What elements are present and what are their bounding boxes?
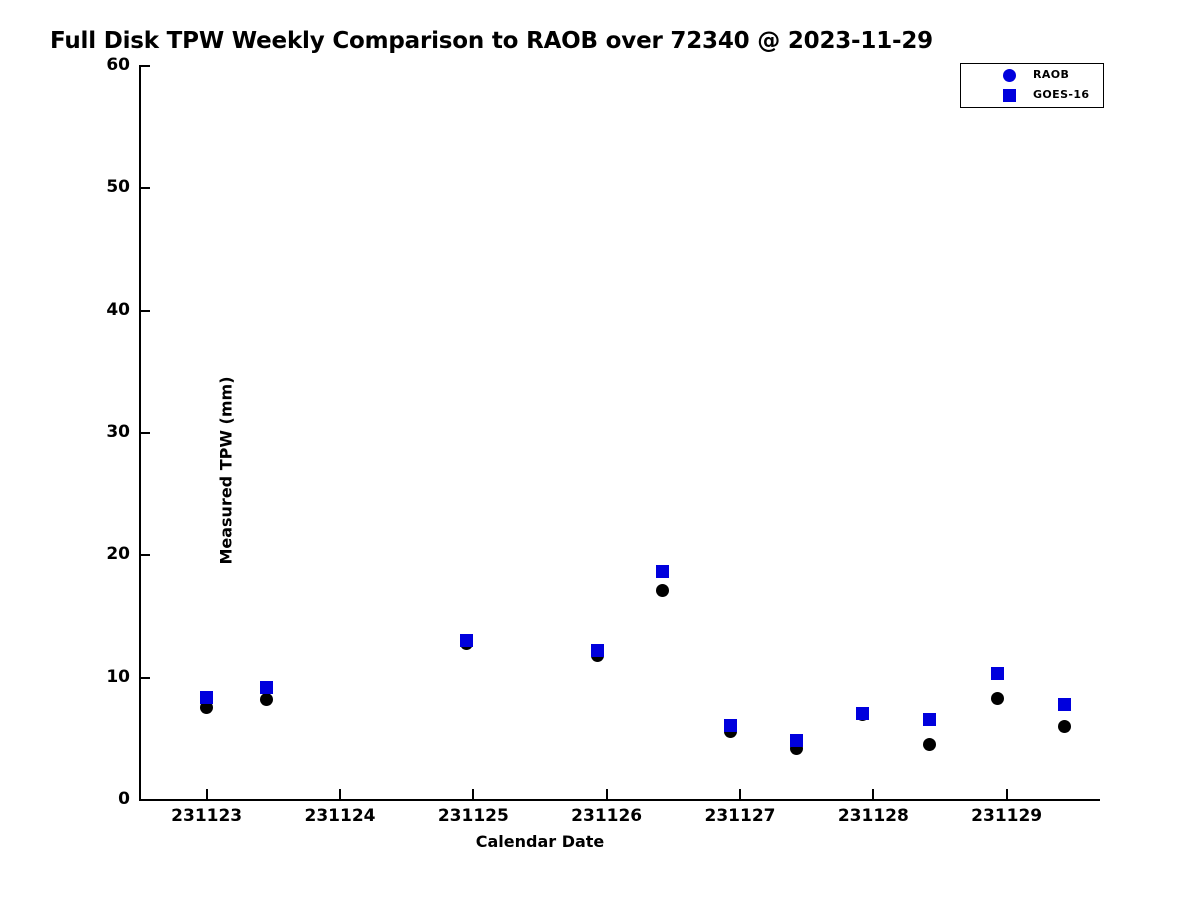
legend-label-raob: RAOB bbox=[1033, 68, 1069, 81]
legend-label-goes16: GOES-16 bbox=[1033, 88, 1090, 101]
x-tick-label-231129: 231129 bbox=[942, 806, 1072, 826]
y-tick-label-60: 60 bbox=[70, 55, 130, 75]
x-tick-label-231124: 231124 bbox=[275, 806, 405, 826]
raob-circle-icon bbox=[1003, 69, 1017, 83]
y-tick-label-50: 50 bbox=[70, 177, 130, 197]
chart-legend[interactable]: RAOB GOES-16 bbox=[960, 63, 1104, 108]
goes16-square-icon bbox=[1003, 89, 1017, 103]
y-tick-label-10: 10 bbox=[70, 667, 130, 687]
y-tick-label-0: 0 bbox=[70, 789, 130, 809]
data-point-goes-16-3 bbox=[591, 644, 604, 657]
x-tick-label-231127: 231127 bbox=[675, 806, 805, 826]
plot-area: Measured TPW (mm) bbox=[140, 66, 1100, 800]
data-point-goes-16-8 bbox=[923, 713, 936, 726]
x-tick-label-231126: 231126 bbox=[542, 806, 672, 826]
data-point-goes-16-2 bbox=[460, 634, 473, 647]
data-point-goes-16-6 bbox=[790, 734, 803, 747]
data-point-goes-16-9 bbox=[991, 667, 1004, 680]
data-point-goes-16-5 bbox=[724, 719, 737, 732]
y-tick-label-30: 30 bbox=[70, 422, 130, 442]
data-point-goes-16-10 bbox=[1058, 698, 1071, 711]
data-point-goes-16-0 bbox=[200, 691, 213, 704]
data-point-goes-16-4 bbox=[656, 565, 669, 578]
x-tick-label-231125: 231125 bbox=[408, 806, 538, 826]
x-tick-label-231128: 231128 bbox=[808, 806, 938, 826]
y-axis-label: Measured TPW (mm) bbox=[217, 341, 236, 601]
data-point-goes-16-1 bbox=[260, 681, 273, 694]
data-point-raob-10 bbox=[1058, 720, 1071, 733]
x-tick-label-231123: 231123 bbox=[142, 806, 272, 826]
x-axis-label: Calendar Date bbox=[330, 832, 750, 851]
y-tick-label-40: 40 bbox=[70, 300, 130, 320]
data-point-raob-9 bbox=[991, 692, 1004, 705]
y-tick-label-20: 20 bbox=[70, 544, 130, 564]
chart-title: Full Disk TPW Weekly Comparison to RAOB … bbox=[50, 28, 933, 54]
chart-figure: Full Disk TPW Weekly Comparison to RAOB … bbox=[0, 0, 1200, 900]
data-point-goes-16-7 bbox=[856, 707, 869, 720]
legend-entry-goes16[interactable]: GOES-16 bbox=[961, 87, 1105, 105]
legend-entry-raob[interactable]: RAOB bbox=[961, 67, 1105, 85]
